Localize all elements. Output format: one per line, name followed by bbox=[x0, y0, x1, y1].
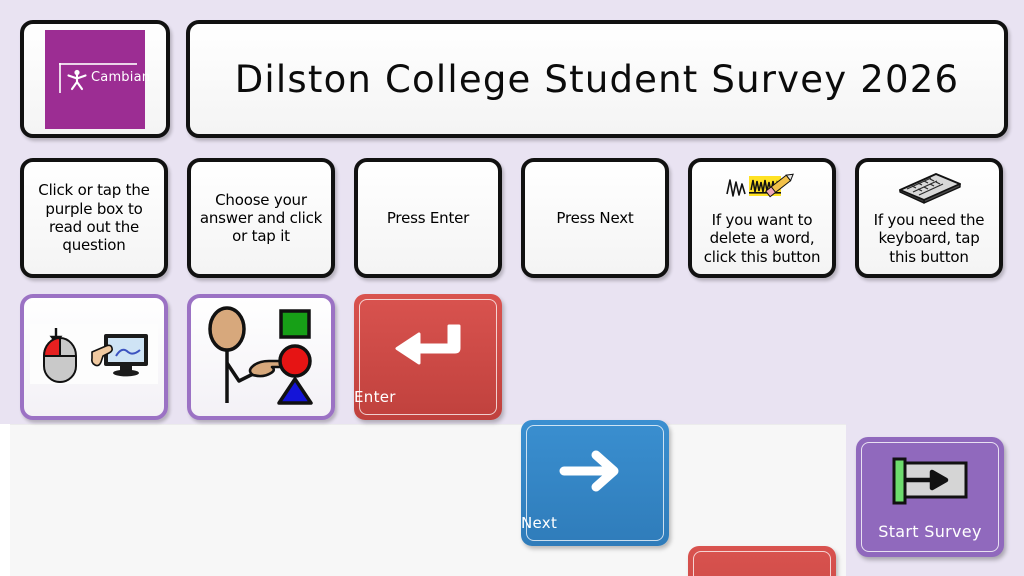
instruction-card-keyboard: If you need the keyboard, tap this butto… bbox=[855, 158, 1003, 278]
symbol-card-mouse-touch[interactable] bbox=[20, 294, 168, 420]
instruction-text: If you want to delete a word, click this… bbox=[692, 211, 832, 266]
instruction-text: Press Enter bbox=[381, 209, 475, 227]
page-title-card: Dilston College Student Survey 2026 bbox=[186, 20, 1008, 138]
person-pointing-shapes-icon bbox=[197, 303, 325, 411]
mouse-and-touchscreen-icon bbox=[30, 320, 158, 394]
symbol-card-pointing[interactable] bbox=[187, 294, 335, 420]
enter-button-label: Enter bbox=[354, 388, 502, 406]
right-arrow-icon bbox=[521, 440, 669, 502]
content-panel-gutter bbox=[0, 424, 10, 576]
page-title: Dilston College Student Survey 2026 bbox=[235, 58, 960, 101]
instruction-card-choose-answer: Choose your answer and click or tap it bbox=[187, 158, 335, 278]
logo-rule-top bbox=[59, 63, 137, 65]
next-button-label: Next bbox=[521, 514, 669, 532]
cambian-logo-card: Cambian bbox=[20, 20, 170, 138]
instruction-text: Choose your answer and click or tap it bbox=[191, 191, 331, 246]
toolbar-board: Cambian Dilston College Student Survey 2… bbox=[0, 0, 1024, 424]
cambian-logo-square: Cambian bbox=[45, 30, 145, 129]
enter-arrow-icon bbox=[354, 314, 502, 376]
keyboard-isometric-icon bbox=[892, 170, 966, 208]
start-survey-label: Start Survey bbox=[856, 522, 1004, 541]
delete-word-button[interactable]: Delete word bbox=[688, 546, 836, 576]
next-button[interactable]: Next bbox=[521, 420, 669, 546]
instruction-card-press-enter: Press Enter bbox=[354, 158, 502, 278]
scribble-eraser-icon bbox=[724, 170, 800, 208]
instruction-text: Press Next bbox=[550, 209, 639, 227]
instruction-card-press-next: Press Next bbox=[521, 158, 669, 278]
instruction-text: If you need the keyboard, tap this butto… bbox=[859, 211, 999, 266]
instruction-text: Click or tap the purple box to read out … bbox=[24, 181, 164, 254]
enter-button[interactable]: Enter bbox=[354, 294, 502, 420]
backspace-arrow-icon bbox=[688, 566, 836, 576]
start-survey-button[interactable]: Start Survey bbox=[856, 437, 1004, 557]
logo-rule-left bbox=[59, 63, 61, 93]
instruction-card-read-question: Click or tap the purple box to read out … bbox=[20, 158, 168, 278]
cambian-logo-wordmark: Cambian bbox=[91, 70, 150, 85]
person-figure-icon bbox=[66, 67, 88, 93]
instruction-card-delete-word: If you want to delete a word, click this… bbox=[688, 158, 836, 278]
start-flag-arrow-icon bbox=[882, 453, 978, 515]
